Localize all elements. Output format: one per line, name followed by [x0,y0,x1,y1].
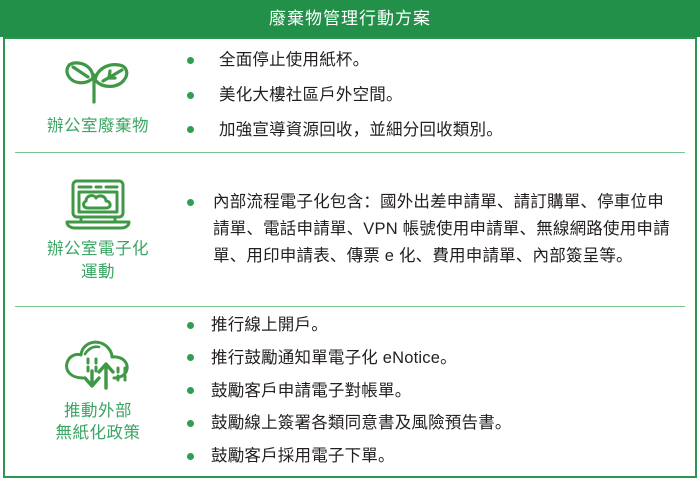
category-cell-paperless-policy: 推動外部 無紙化政策 [9,338,187,445]
list-item: 鼓勵線上簽署各類同意書及風險預告書。 [187,410,677,437]
laptop-cloud-icon [61,176,135,232]
cloud-upload-download-icon [58,338,138,394]
category-label-paperless-policy: 推動外部 無紙化政策 [56,400,141,445]
page-title: 廢棄物管理行動方案 [269,10,431,27]
plan-row-office-waste: 辦公室廢棄物 全面停止使用紙杯。 美化大樓社區戶外空間。 加強宣導資源回收，並細… [5,39,695,152]
plan-row-paperless-policy: 推動外部 無紙化政策 推行線上開戶。 推行鼓勵通知單電子化 eNotice。 鼓… [5,307,695,475]
category-label-office-waste: 辦公室廢棄物 [47,115,149,137]
sprout-leaves-icon [61,53,135,109]
bullet-list-paperless-policy: 推行線上開戶。 推行鼓勵通知單電子化 eNotice。 鼓勵客戶申請電子對帳單。… [187,312,691,470]
card-header: 廢棄物管理行動方案 [0,0,700,37]
card-body: 辦公室廢棄物 全面停止使用紙杯。 美化大樓社區戶外空間。 加強宣導資源回收，並細… [3,37,697,478]
category-label-office-digitalization: 辦公室電子化 運動 [47,238,149,283]
plan-row-office-digitalization: 辦公室電子化 運動 內部流程電子化包含：國外出差申請單、請訂購單、停車位申請單、… [5,153,695,306]
list-item: 推行鼓勵通知單電子化 eNotice。 [187,345,677,372]
list-item: 內部流程電子化包含：國外出差申請單、請訂購單、停車位申請單、電話申請單、VPN … [187,189,677,269]
list-item: 鼓勵客戶採用電子下單。 [187,443,677,470]
list-item: 加強宣導資源回收，並細分回收類別。 [187,117,677,144]
bullet-list-office-waste: 全面停止使用紙杯。 美化大樓社區戶外空間。 加強宣導資源回收，並細分回收類別。 [187,47,691,143]
list-item: 全面停止使用紙杯。 [187,47,677,74]
category-cell-office-digitalization: 辦公室電子化 運動 [9,176,187,283]
bullet-list-office-digitalization: 內部流程電子化包含：國外出差申請單、請訂購單、停車位申請單、電話申請單、VPN … [187,189,691,269]
list-item: 鼓勵客戶申請電子對帳單。 [187,378,677,405]
category-cell-office-waste: 辦公室廢棄物 [9,53,187,137]
list-item: 美化大樓社區戶外空間。 [187,82,677,109]
list-item: 推行線上開戶。 [187,312,677,339]
waste-management-action-plan-card: 廢棄物管理行動方案 [0,0,700,481]
